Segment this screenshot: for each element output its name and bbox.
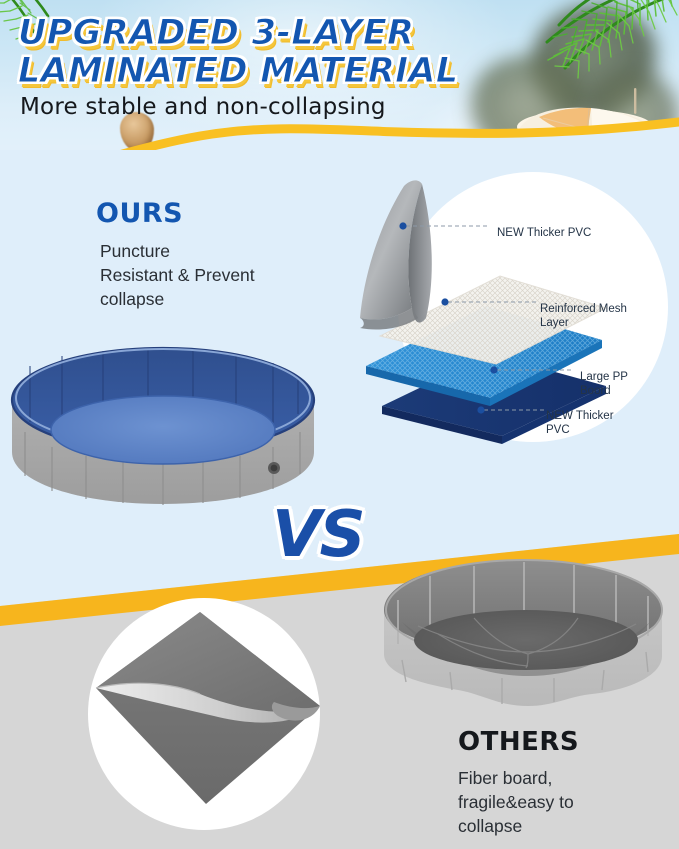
layer-label-new-thicker-pvc-bottom: NEW Thicker PVC [546, 409, 614, 437]
vs-badge: VS [272, 503, 364, 567]
ours-description: Puncture Resistant & Prevent collapse [100, 239, 316, 311]
folding-pool-grey-collapsed-icon [378, 548, 668, 738]
exploded-layers-icon [360, 168, 679, 458]
layer-label-reinforced-mesh-layer: Reinforced Mesh Layer [540, 302, 627, 330]
folding-pool-blue-icon [8, 326, 318, 526]
page-title: UPGRADED 3-LAYER LAMINATED MATERIAL [18, 14, 538, 90]
header-title-wrap: UPGRADED 3-LAYER LAMINATED MATERIAL [18, 14, 538, 90]
others-text-block: OTHERS Fiber board, fragile&easy to coll… [458, 727, 668, 838]
infographic-page: OURS Puncture Resistant & Prevent collap… [0, 0, 679, 849]
ours-text-block: OURS Puncture Resistant & Prevent collap… [96, 198, 316, 311]
ours-heading: OURS [96, 198, 316, 229]
delaminating-sheet-icon [88, 598, 320, 830]
others-heading: OTHERS [458, 727, 668, 757]
layer-label-large-pp-board: Large PP Boord [580, 370, 628, 398]
others-description: Fiber board, fragile&easy to collapse [458, 766, 668, 838]
layer-label-new-thicker-pvc-top: NEW Thicker PVC [497, 226, 591, 240]
page-subtitle: More stable and non-collapsing [20, 94, 386, 120]
